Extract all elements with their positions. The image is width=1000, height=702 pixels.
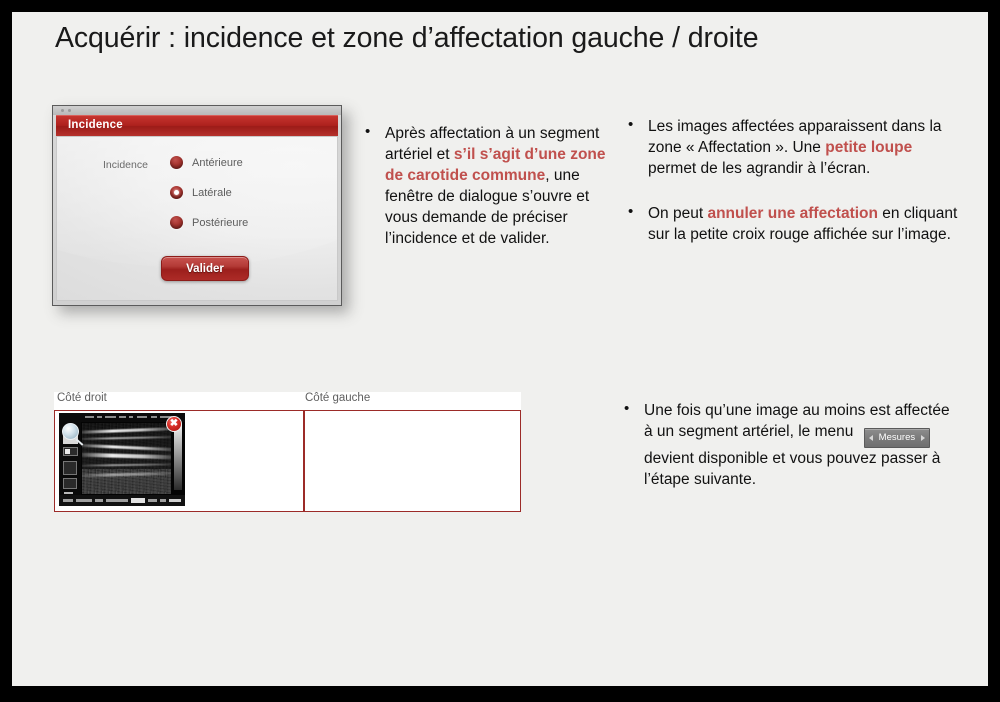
dialog-body: Incidence Antérieure Latérale Postérieur… — [56, 136, 338, 301]
arrow-left-icon — [869, 435, 873, 441]
close-icon[interactable]: ✖ — [166, 416, 182, 432]
dialog-titlebar: Incidence — [56, 115, 338, 136]
affectation-panel-gauche[interactable] — [305, 411, 520, 511]
incidence-dialog-screenshot: Incidence Incidence Antérieure Latérale … — [52, 105, 342, 306]
arrow-right-icon — [921, 435, 925, 441]
incidence-field-label: Incidence — [103, 159, 148, 171]
ultrasound-image-area — [82, 423, 171, 494]
column-header-cote-droit: Côté droit — [57, 392, 107, 410]
radio-label-anterieure: Antérieure — [192, 157, 243, 169]
radio-option-posterieure[interactable]: Postérieure — [170, 216, 248, 229]
affectation-panels: ✖ — [54, 410, 521, 512]
list-item: On peut annuler une affectation en cliqu… — [624, 203, 959, 245]
dialog-title-text: Incidence — [68, 119, 123, 131]
bullet-text-accent: annuler une affectation — [707, 205, 878, 222]
slide-canvas: Acquérir : incidence et zone d’affectati… — [12, 12, 988, 686]
column-header-cote-gauche: Côté gauche — [305, 392, 370, 410]
radio-option-laterale[interactable]: Latérale — [170, 186, 232, 199]
ultrasound-bottombar — [59, 495, 185, 506]
bullet-column-right-bottom: Une fois qu’une image au moins est affec… — [620, 400, 960, 504]
bullet-column-right-top: Les images affectées apparaissent dans l… — [624, 116, 959, 259]
list-item: Les images affectées apparaissent dans l… — [624, 116, 959, 179]
bullet-text-accent: petite loupe — [825, 139, 912, 156]
ultrasound-thumbnail[interactable]: ✖ — [59, 413, 185, 506]
affectation-panel-droit[interactable]: ✖ — [55, 411, 305, 511]
list-item: Après affectation à un segment artériel … — [361, 123, 606, 249]
bullet-text-part: devient disponible et vous pouvez passer… — [644, 450, 940, 488]
bullet-column-middle: Après affectation à un segment artériel … — [361, 123, 606, 263]
valider-button[interactable]: Valider — [161, 256, 249, 281]
ultrasound-gray-scale-bar — [174, 424, 182, 490]
radio-label-posterieure: Postérieure — [192, 217, 248, 229]
valider-button-label: Valider — [186, 263, 224, 275]
radio-indicator-anterieure[interactable] — [170, 156, 183, 169]
mesures-menu-button[interactable]: Mesures — [864, 428, 930, 448]
affectation-zone-screenshot: Côté droit Côté gauche — [54, 392, 521, 512]
list-item: Une fois qu’une image au moins est affec… — [620, 400, 960, 490]
bullet-text-part: On peut — [648, 205, 707, 222]
mesures-menu-label: Mesures — [877, 429, 917, 447]
bullet-text-part: permet de les agrandir à l’écran. — [648, 160, 870, 177]
dialog-window-chrome — [53, 106, 341, 115]
radio-option-anterieure[interactable]: Antérieure — [170, 156, 243, 169]
page-title: Acquérir : incidence et zone d’affectati… — [55, 22, 955, 55]
radio-label-laterale: Latérale — [192, 187, 232, 199]
radio-indicator-laterale[interactable] — [170, 186, 183, 199]
radio-indicator-posterieure[interactable] — [170, 216, 183, 229]
